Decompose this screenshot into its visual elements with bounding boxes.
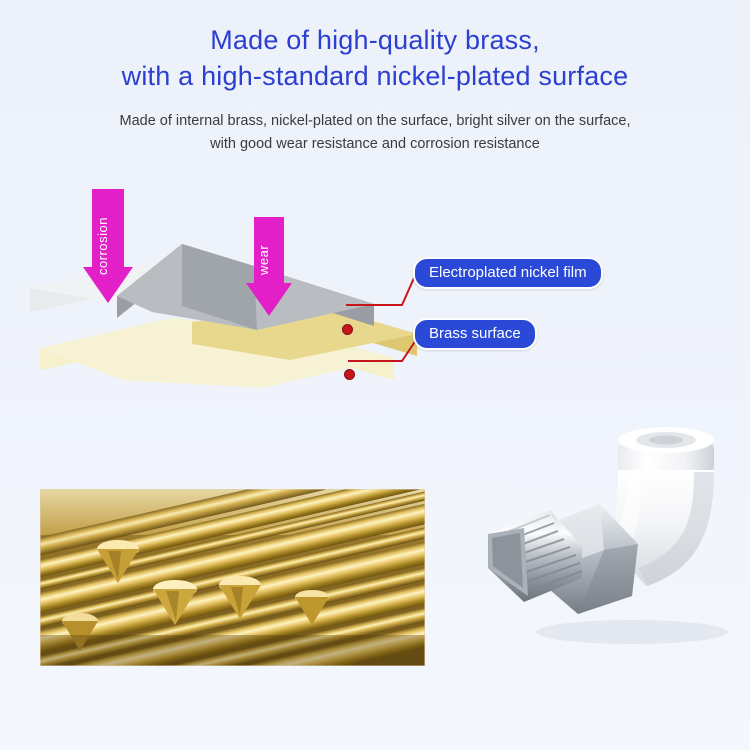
page-title-line1: Made of high-quality brass, (210, 25, 540, 55)
brass-rods-photo (40, 489, 425, 666)
marker-dot-nickel (342, 324, 353, 335)
coating-layer-diagram: corrosion wear Electroplated nickel film… (0, 175, 750, 435)
callout-brass-surface[interactable]: Brass surface (413, 318, 537, 350)
page-subtitle: Made of internal brass, nickel-plated on… (0, 110, 750, 156)
page-title-line2: with a high-standard nickel-plated surfa… (0, 58, 750, 94)
page-subtitle-line2: with good wear resistance and corrosion … (210, 136, 540, 152)
page-title: Made of high-quality brass, with a high-… (0, 22, 750, 94)
page-root: Made of high-quality brass, with a high-… (0, 0, 750, 750)
callout-electroplated-nickel-film[interactable]: Electroplated nickel film (413, 257, 603, 289)
corrosion-arrow-label: corrosion (95, 203, 110, 275)
page-subtitle-line1: Made of internal brass, nickel-plated on… (120, 113, 631, 129)
pneumatic-fitting-photo (432, 418, 732, 686)
marker-dot-brass (344, 369, 355, 380)
wear-arrow-label: wear (256, 227, 271, 275)
brass-rods-image (40, 489, 425, 666)
pneumatic-fitting-image (432, 418, 732, 686)
